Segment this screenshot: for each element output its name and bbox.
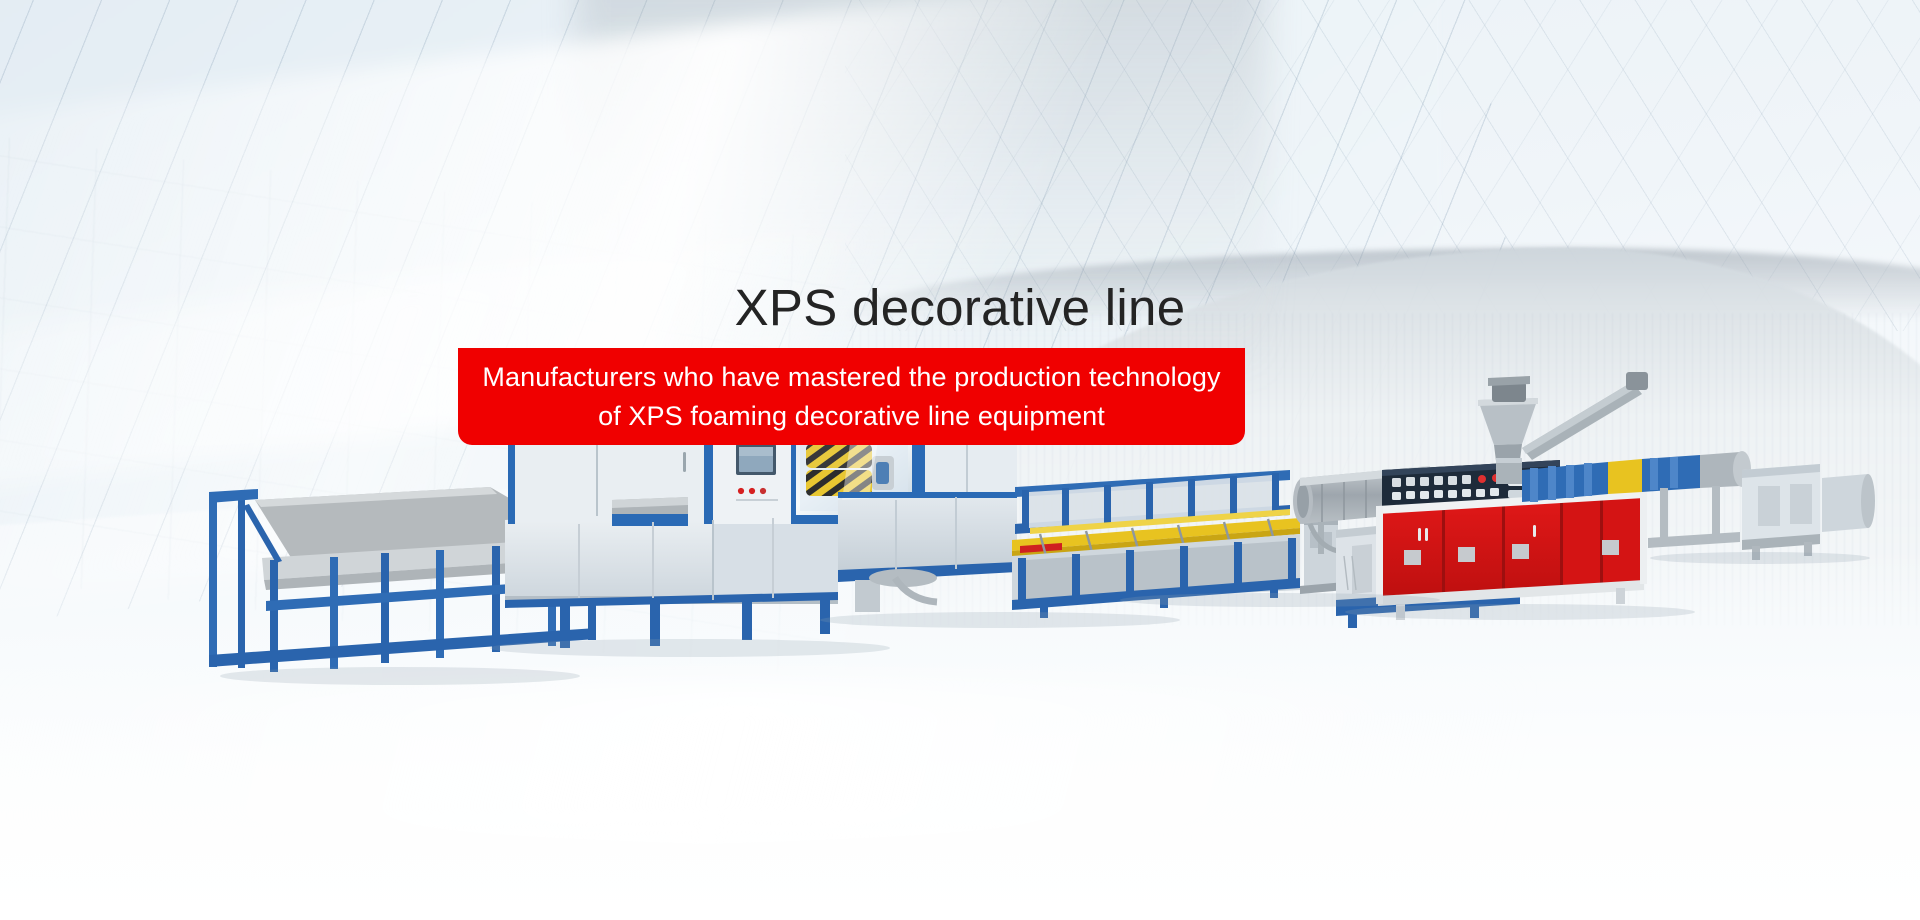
hero-background-floor-sheen [0,681,1920,847]
hero-subtitle-banner: Manufacturers who have mastered the prod… [458,348,1245,445]
hero-banner-section: XPS decorative line Manufacturers who ha… [0,0,1920,920]
page-title: XPS decorative line [0,282,1920,333]
banner-line-2: of XPS foaming decorative line equipment [598,397,1105,436]
banner-line-1: Manufacturers who have mastered the prod… [482,358,1220,397]
